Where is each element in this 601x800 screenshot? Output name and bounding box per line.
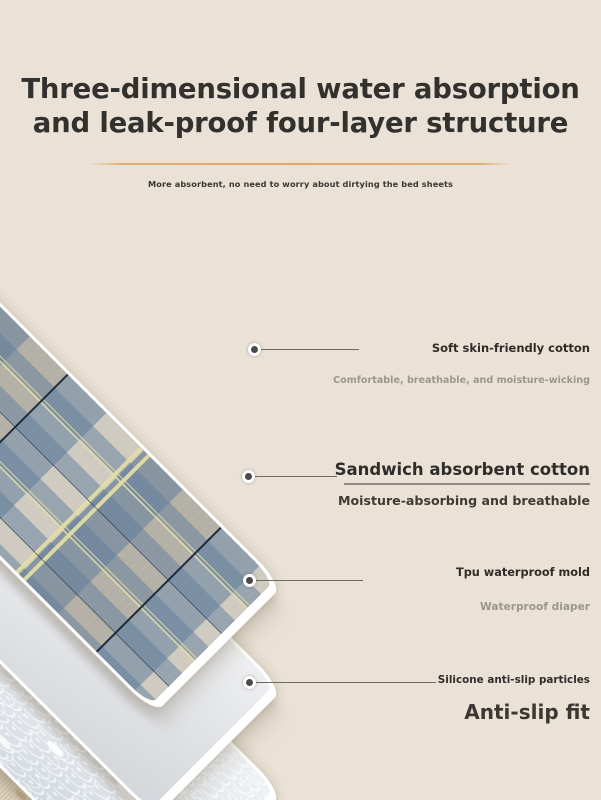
callout-leader-line-layer-4	[256, 682, 436, 683]
callout-dot-layer-4[interactable]	[243, 676, 256, 689]
callout-dot-layer-2[interactable]	[242, 470, 255, 483]
layer-4-title: Silicone anti-slip particles	[438, 674, 590, 686]
title-divider-rule	[88, 163, 513, 165]
layer-4-subtitle: Anti-slip fit	[464, 700, 590, 724]
layer-2-title-underline	[344, 483, 590, 485]
callout-leader-line-layer-1	[261, 349, 359, 350]
layer-3-title: Tpu waterproof mold	[456, 566, 590, 579]
page-subtitle: More absorbent, no need to worry about d…	[0, 179, 601, 189]
callout-leader-line-layer-2	[255, 476, 337, 477]
layer-3-subtitle: Waterproof diaper	[480, 601, 590, 613]
callout-dot-layer-3[interactable]	[243, 574, 256, 587]
page-title-line-2: and leak-proof four-layer structure	[0, 106, 601, 140]
page-title: Three-dimensional water absorption and l…	[0, 72, 601, 140]
page-title-line-1: Three-dimensional water absorption	[0, 72, 601, 106]
header-section: Three-dimensional water absorption and l…	[0, 0, 601, 215]
layer-1-title: Soft skin-friendly cotton	[432, 341, 590, 355]
infographic-page: Three-dimensional water absorption and l…	[0, 0, 601, 800]
callout-dot-layer-1[interactable]	[248, 343, 261, 356]
callout-leader-line-layer-3	[256, 580, 363, 581]
layer-2-subtitle: Moisture-absorbing and breathable	[338, 493, 590, 508]
layer-1-subtitle: Comfortable, breathable, and moisture-wi…	[333, 375, 590, 386]
layer-2-title: Sandwich absorbent cotton	[335, 460, 590, 479]
